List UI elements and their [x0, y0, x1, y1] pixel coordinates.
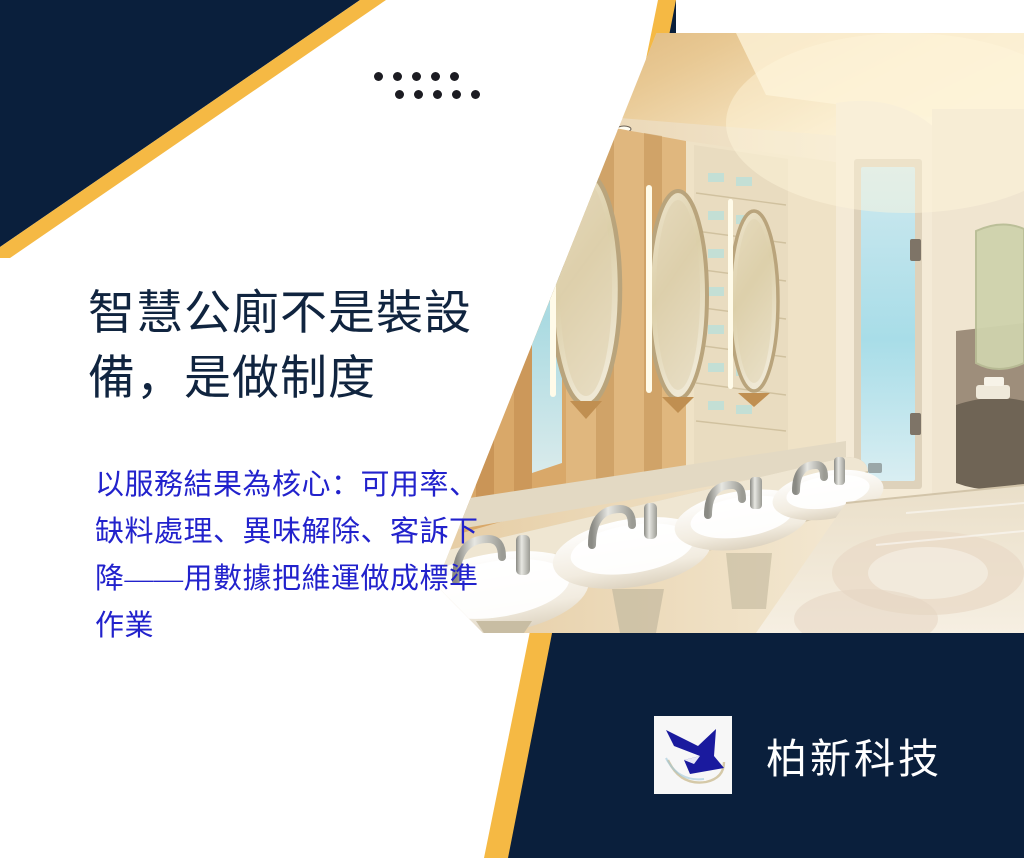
white-mask-upper	[676, 0, 1024, 33]
slide-canvas: 智慧公廁不是裝設 備，是做制度 以服務結果為核心：可用率、 缺料處理、異味解除、…	[0, 0, 1024, 858]
brand-name: 柏新科技	[766, 725, 942, 785]
dot	[374, 72, 383, 81]
dot-row-one	[374, 72, 494, 81]
slide-subtext: 以服務結果為核心：可用率、 缺料處理、異味解除、客訴下 降——用數據把維運做成標…	[95, 462, 507, 650]
dot	[471, 90, 480, 99]
dot	[395, 90, 404, 99]
swoosh-bird-mark-icon	[654, 716, 732, 794]
dot	[412, 72, 421, 81]
dot	[431, 72, 440, 81]
dot-grid-decoration	[374, 72, 494, 122]
slide-headline: 智慧公廁不是裝設 備，是做制度	[88, 282, 498, 412]
dot-row-two	[395, 90, 494, 99]
dot	[433, 90, 442, 99]
dot	[452, 90, 461, 99]
dot	[414, 90, 423, 99]
dot	[393, 72, 402, 81]
brand-logo-lockup: 柏新科技	[654, 716, 942, 794]
dot	[450, 72, 459, 81]
